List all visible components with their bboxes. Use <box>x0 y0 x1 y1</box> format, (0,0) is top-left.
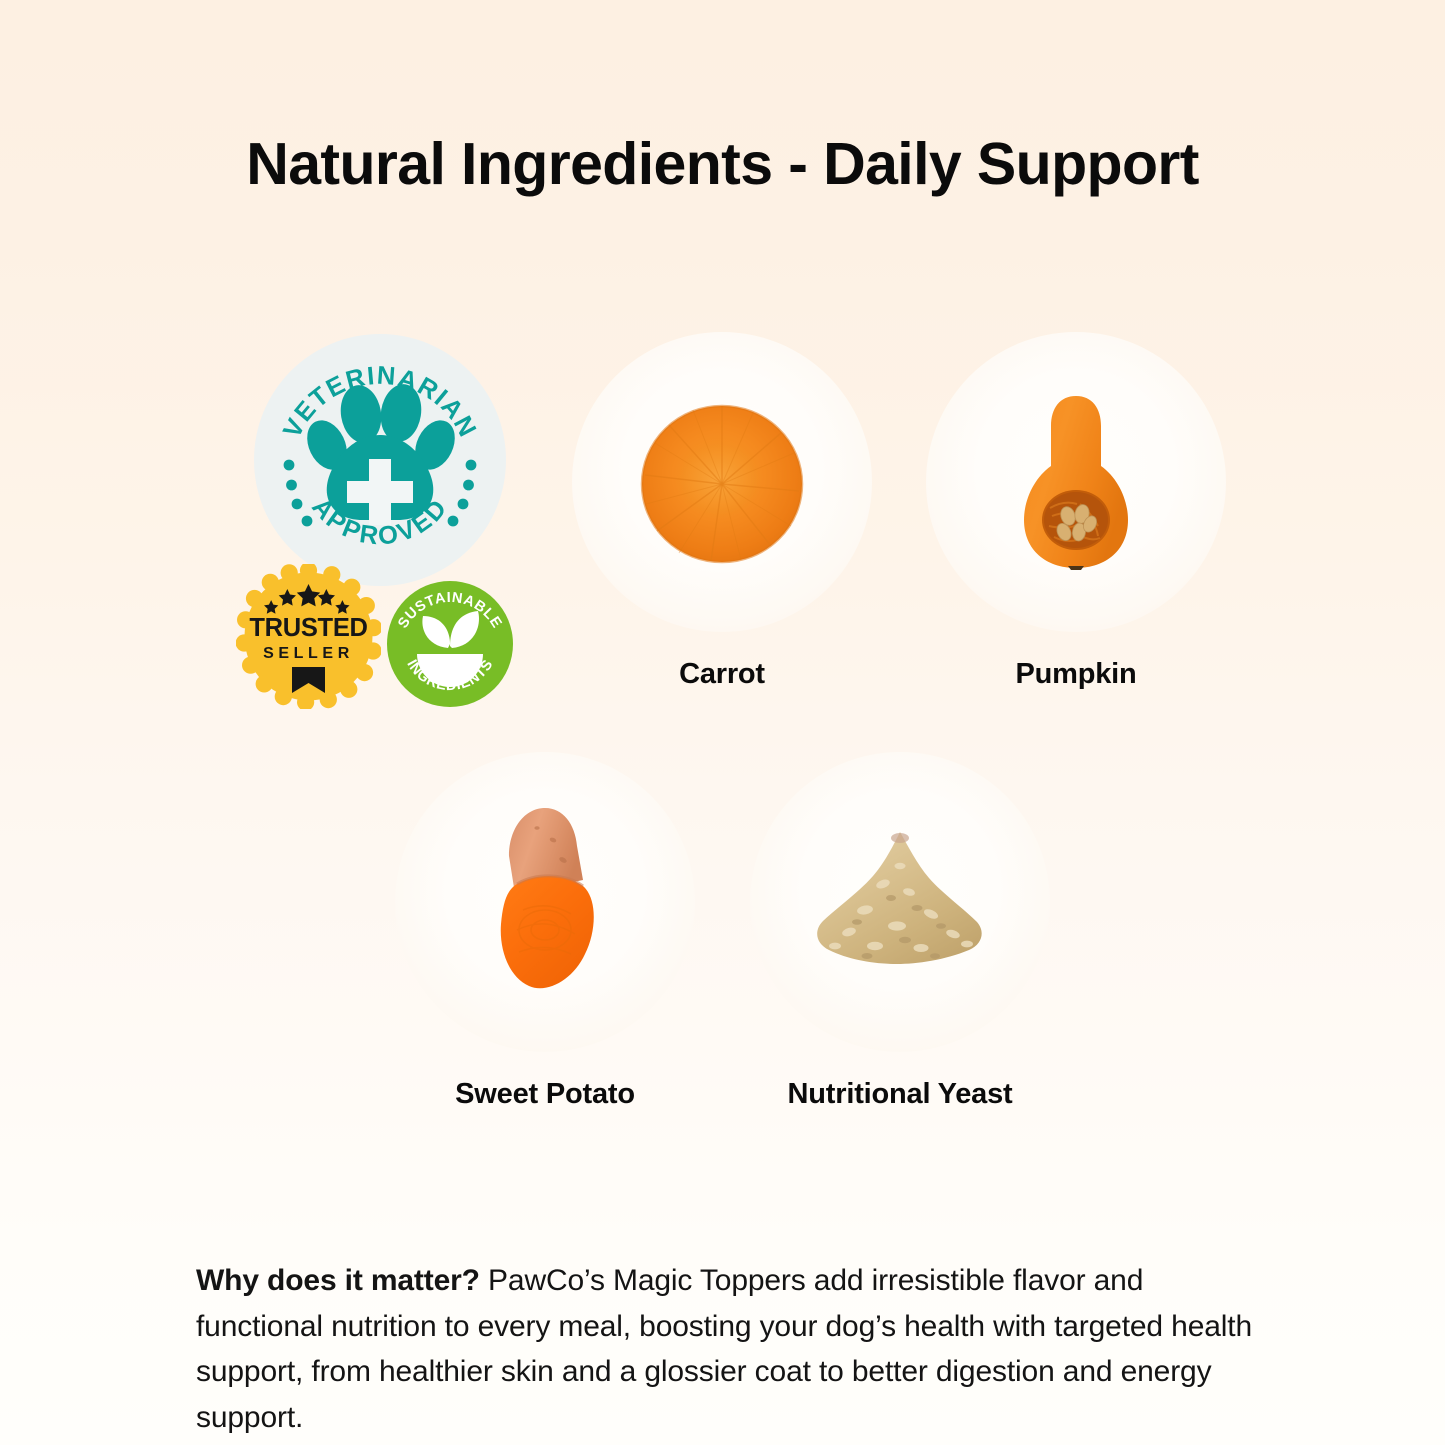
trusted-seller-badge: TRUSTED SELLER <box>236 564 381 709</box>
ingredient-label: Nutritional Yeast <box>750 1078 1050 1111</box>
ingredient-disc <box>926 332 1226 632</box>
trust-badge-cluster: VETERINARIAN APPROVED <box>228 334 528 714</box>
ingredient-label: Sweet Potato <box>395 1078 695 1111</box>
sustainable-ingredients-badge-icon: SUSTAINABLE INGREDIENTS <box>384 578 516 710</box>
marketing-infographic-page: Natural Ingredients - Daily Support <box>0 0 1445 1445</box>
trusted-seller-badge-icon: TRUSTED SELLER <box>236 564 381 709</box>
ingredient-nutritional-yeast: Nutritional Yeast <box>750 752 1050 1111</box>
ingredient-label: Pumpkin <box>926 658 1226 691</box>
ingredient-label: Carrot <box>572 658 872 691</box>
ingredient-carrot: Carrot <box>572 332 872 691</box>
ingredient-sweet-potato: Sweet Potato <box>395 752 695 1111</box>
trusted-seller-line2: SELLER <box>263 645 354 662</box>
trusted-seller-line1: TRUSTED <box>249 614 367 642</box>
veterinarian-approved-badge: VETERINARIAN APPROVED <box>254 334 506 586</box>
why-it-matters-lead: Why does it matter? <box>196 1264 480 1297</box>
sustainable-ingredients-badge: SUSTAINABLE INGREDIENTS <box>384 578 516 710</box>
nutritional-yeast-pile-image <box>805 822 995 982</box>
ingredient-disc <box>750 752 1050 1052</box>
svg-text:VETERINARIAN: VETERINARIAN <box>278 362 482 443</box>
why-it-matters-paragraph: Why does it matter? PawCo’s Magic Topper… <box>196 1258 1258 1440</box>
carrot-slice-image <box>631 391 813 573</box>
sweet-potato-cut-image <box>475 802 615 1002</box>
butternut-squash-half-image <box>1016 392 1136 572</box>
ingredient-pumpkin: Pumpkin <box>926 332 1226 691</box>
veterinarian-approved-badge-icon: VETERINARIAN APPROVED <box>254 334 506 586</box>
ingredient-disc <box>572 332 872 632</box>
ingredient-disc <box>395 752 695 1052</box>
page-title: Natural Ingredients - Daily Support <box>0 131 1445 197</box>
